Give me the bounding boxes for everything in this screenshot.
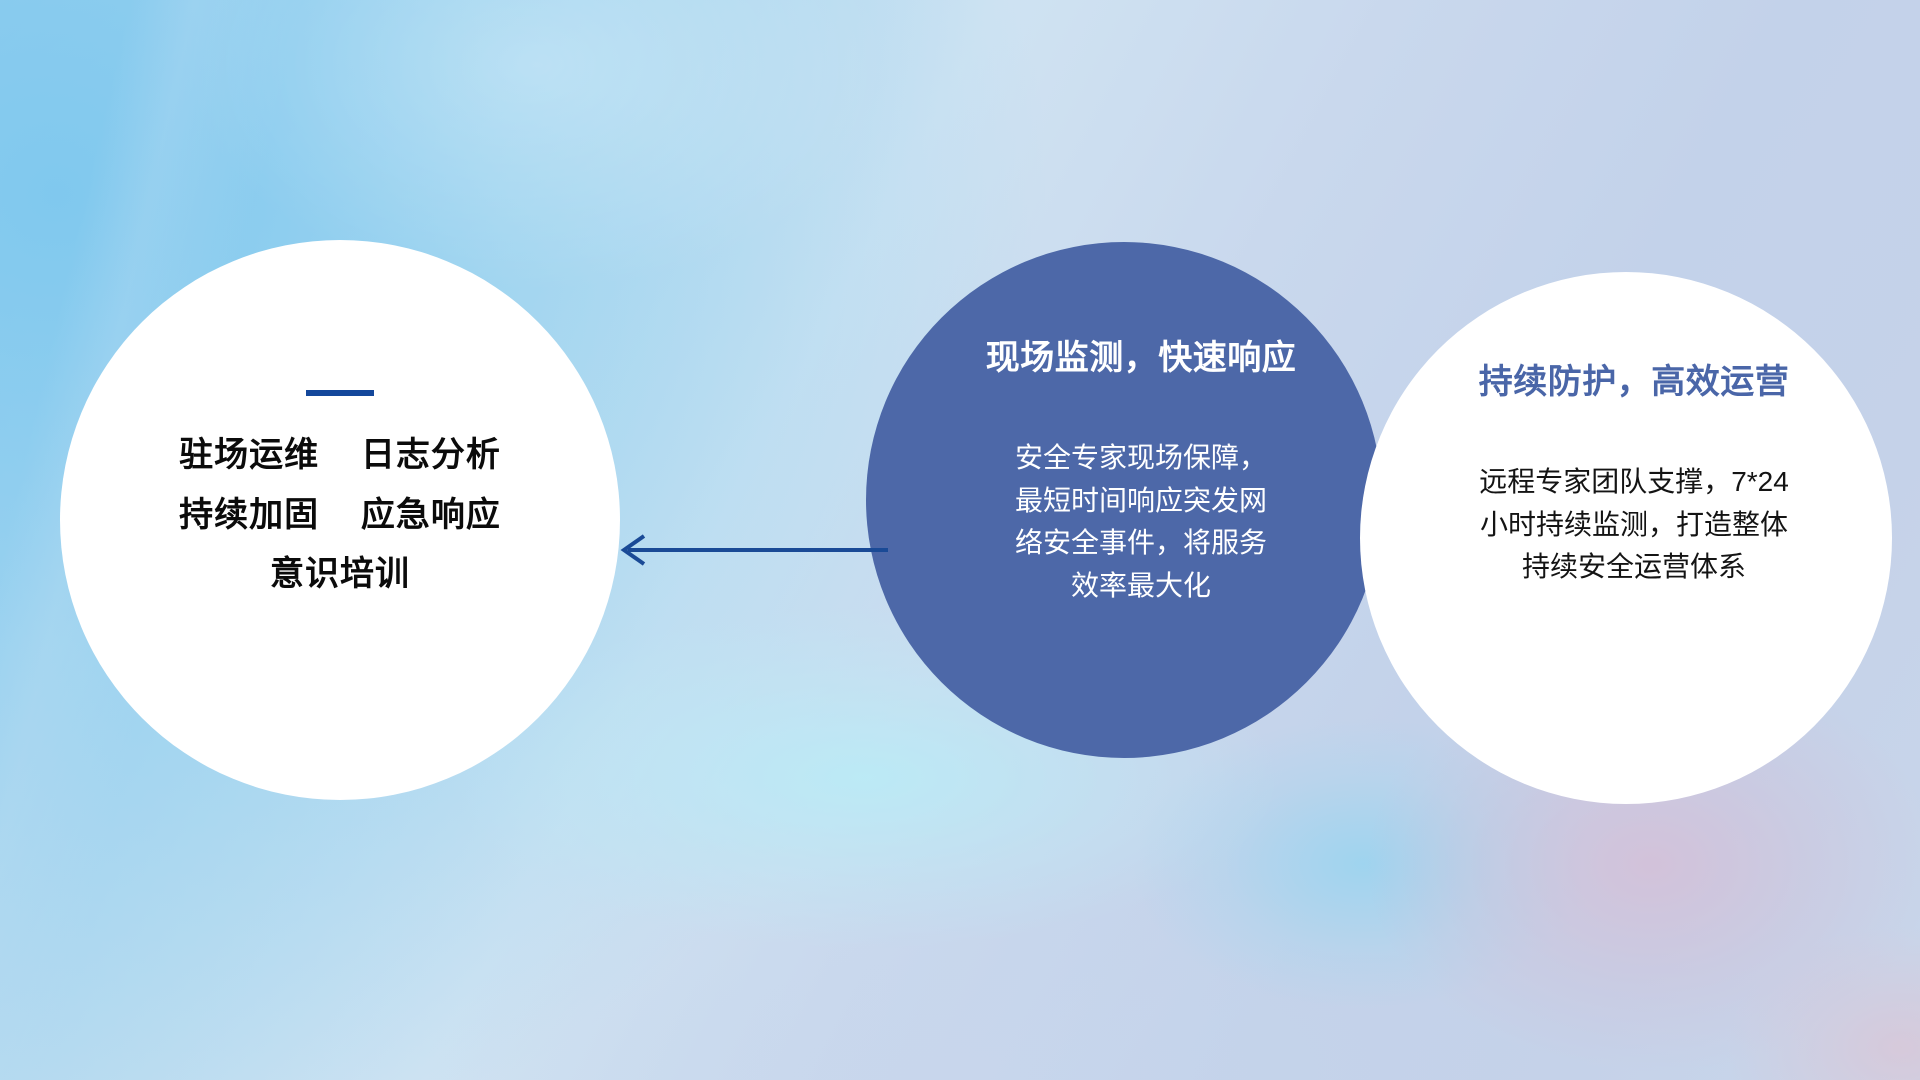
continuous-protection-content: 持续防护，高效运营 远程专家团队支撑，7*24 小时持续监测，打造整体 持续安全… [1360,272,1892,804]
slide-canvas: 驻场运维 日志分析 持续加固 应急响应 意识培训 现场监测，快速响应 安全专家现… [0,0,1920,1080]
list-item: 驻场运维 日志分析 [179,438,501,474]
onsite-monitoring-content: 现场监测，快速响应 安全专家现场保障， 最短时间响应突发网 络安全事件，将服务 … [866,242,1382,758]
arrow-icon [600,520,890,580]
service-item-list: 驻场运维 日志分析 持续加固 应急响应 意识培训 [179,438,501,593]
onsite-monitoring-heading: 现场监测，快速响应 [986,330,1297,379]
body-line: 最短时间响应突发网 [991,480,1291,523]
body-line: 效率最大化 [991,565,1291,608]
onsite-monitoring-body: 安全专家现场保障， 最短时间响应突发网 络安全事件，将服务 效率最大化 [991,437,1291,607]
continuous-protection-heading: 持续防护，高效运营 [1479,354,1790,403]
divider-bar [306,390,374,396]
list-item: 意识培训 [270,557,410,593]
body-line: 持续安全运营体系 [1424,546,1844,589]
body-line: 安全专家现场保障， [991,437,1291,480]
body-line: 络安全事件，将服务 [991,522,1291,565]
body-line: 小时持续监测，打造整体 [1424,504,1844,547]
list-item: 持续加固 应急响应 [179,498,501,534]
leftward-arrow [600,520,890,580]
body-line: 远程专家团队支撑，7*24 [1424,461,1844,504]
service-capability-content: 驻场运维 日志分析 持续加固 应急响应 意识培训 [60,240,620,800]
continuous-protection-body: 远程专家团队支撑，7*24 小时持续监测，打造整体 持续安全运营体系 [1424,461,1844,589]
